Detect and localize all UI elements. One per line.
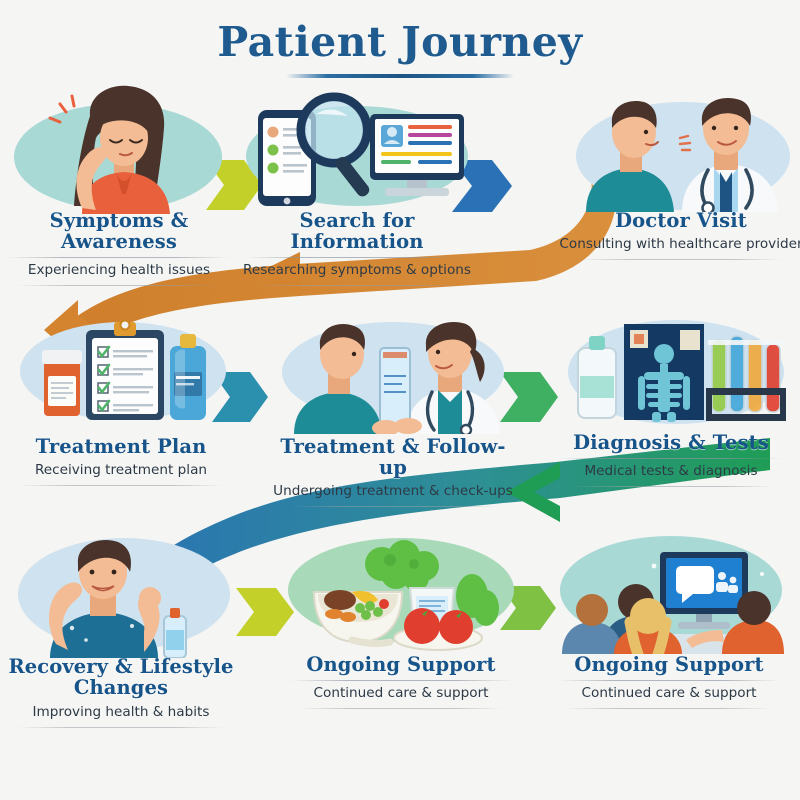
step-subtitle: Continued care & support xyxy=(272,685,530,701)
step-subtitle: Continued care & support xyxy=(540,685,798,701)
scene-woman-headache xyxy=(0,86,248,210)
scene-patient-and-doctor xyxy=(552,86,800,210)
step-subtitle: Researching symptoms & options xyxy=(228,262,486,278)
step-divider xyxy=(558,680,780,681)
group-video-illustration xyxy=(556,530,784,654)
step-title: Search for Information xyxy=(228,210,486,252)
step-diagnosis-tests[interactable]: Diagnosis & Tests Medical tests & diagno… xyxy=(542,308,800,487)
step-divider-bottom xyxy=(254,285,460,286)
step-title: Ongoing Support xyxy=(540,654,798,675)
step-treatment-follow-up[interactable]: Treatment & Follow-up Undergoing treatme… xyxy=(264,312,522,507)
step-title: Recovery & Lifestyle Changes xyxy=(0,656,250,698)
step-recovery-lifestyle-changes[interactable]: Recovery & Lifestyle Changes Improving h… xyxy=(0,532,250,728)
scene-happy-man-flexing xyxy=(0,532,250,656)
step-divider-bottom xyxy=(18,727,224,728)
step-divider-bottom xyxy=(568,486,774,487)
step-divider xyxy=(8,257,230,258)
xray-tubes-illustration xyxy=(562,310,788,432)
scene-xray-test-tubes xyxy=(542,308,800,432)
step-ongoing-support-right[interactable]: Ongoing Support Continued care & support xyxy=(540,530,798,709)
step-divider xyxy=(246,257,468,258)
step-title: Doctor Visit xyxy=(552,210,800,231)
step-doctor-visit[interactable]: Doctor Visit Consulting with healthcare … xyxy=(552,86,800,260)
scene-group-video-support xyxy=(540,530,798,654)
step-title: Treatment Plan xyxy=(0,436,250,457)
step-subtitle: Improving health & habits xyxy=(0,704,250,720)
step-divider-bottom xyxy=(566,708,772,709)
step-subtitle: Undergoing treatment & check-ups xyxy=(264,483,522,499)
devices-magnifier-illustration xyxy=(242,92,474,212)
step-divider-bottom xyxy=(290,506,496,507)
step-title: Treatment & Follow-up xyxy=(264,436,522,478)
step-title: Diagnosis & Tests xyxy=(542,432,800,453)
patient-nurse-illustration xyxy=(276,312,510,434)
happy-man-illustration xyxy=(16,532,232,658)
scene-healthy-food-bowl xyxy=(272,530,530,654)
step-subtitle: Consulting with healthcare provider xyxy=(552,236,800,252)
step-subtitle: Medical tests & diagnosis xyxy=(542,463,800,479)
step-subtitle: Receiving treatment plan xyxy=(0,462,250,478)
infographic-canvas: Patient Journey xyxy=(0,0,800,800)
step-divider-bottom xyxy=(18,485,224,486)
step-divider-bottom xyxy=(578,259,784,260)
step-symptoms-awareness[interactable]: Symptoms & Awareness Experiencing health… xyxy=(0,86,248,286)
step-divider xyxy=(290,680,512,681)
clipboard-medication-illustration xyxy=(18,314,230,434)
step-divider-bottom xyxy=(298,708,504,709)
step-ongoing-support-middle[interactable]: Ongoing Support Continued care & support xyxy=(272,530,530,709)
step-search-for-information[interactable]: Search for Information Researching sympt… xyxy=(228,86,486,286)
step-divider-bottom xyxy=(16,285,222,286)
healthy-food-illustration xyxy=(290,530,514,652)
scene-clipboard-medication xyxy=(0,312,250,436)
step-treatment-plan[interactable]: Treatment Plan Receiving treatment plan xyxy=(0,312,250,486)
step-title: Symptoms & Awareness xyxy=(0,210,248,252)
woman-headache-illustration xyxy=(30,82,220,214)
patient-doctor-illustration xyxy=(562,84,800,212)
scene-devices-magnifier xyxy=(228,86,486,210)
step-title: Ongoing Support xyxy=(272,654,530,675)
scene-patient-nurse-chart xyxy=(264,312,522,436)
step-divider xyxy=(560,458,782,459)
step-subtitle: Experiencing health issues xyxy=(0,262,248,278)
